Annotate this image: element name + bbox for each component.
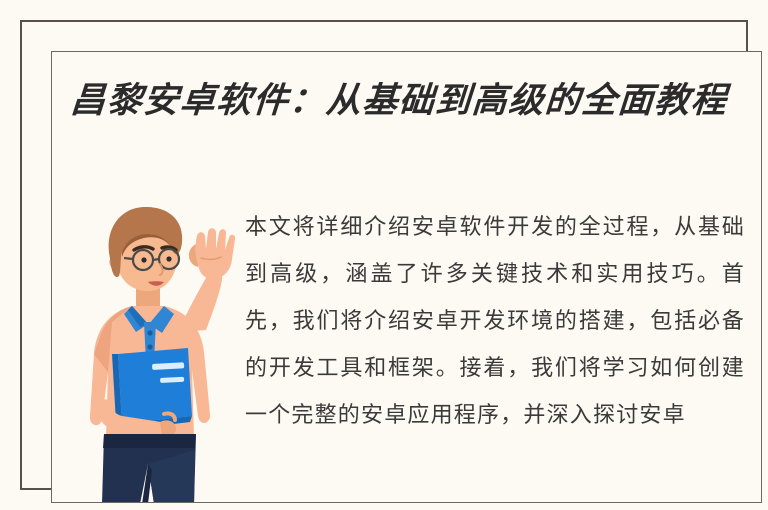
article-body-column: 本文将详细介绍安卓软件开发的全过程，从基础到高级，涵盖了许多关键技术和实用技巧。… — [245, 203, 745, 503]
waving-arm — [178, 228, 235, 332]
outer-border-frame: 昌黎安卓软件：从基础到高级的全面教程 — [20, 20, 748, 490]
page-title: 昌黎安卓软件：从基础到高级的全面教程 — [69, 78, 748, 124]
article-body-text: 本文将详细介绍安卓软件开发的全过程，从基础到高级，涵盖了许多关键技术和实用技巧。… — [245, 203, 745, 438]
pants — [102, 434, 196, 503]
illustration-svg — [74, 202, 249, 503]
inner-border-frame: 昌黎安卓软件：从基础到高级的全面教程 — [51, 51, 762, 503]
illustration-waving-man — [74, 202, 249, 503]
page-root: 昌黎安卓软件：从基础到高级的全面教程 — [0, 0, 768, 510]
head — [109, 207, 183, 291]
